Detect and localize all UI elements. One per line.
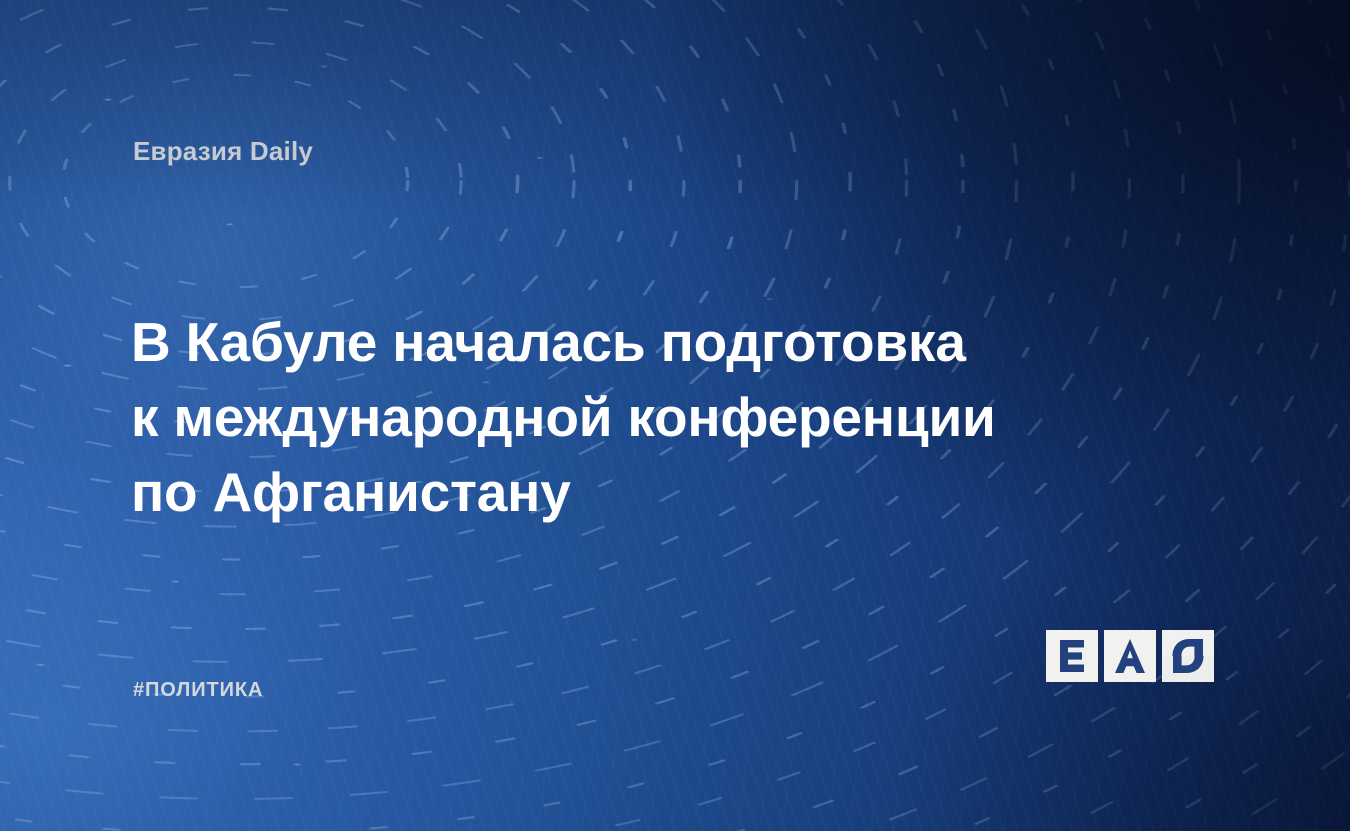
logo-tile-e: [1046, 630, 1098, 682]
eadaily-logo[interactable]: [1046, 630, 1222, 682]
headline-line-1: В Кабуле началась подготовка: [131, 305, 1031, 380]
logo-tile-d-top: [1162, 630, 1214, 656]
logo-tile-d: [1162, 630, 1214, 682]
brand-name: Евразия Daily: [133, 138, 313, 164]
headline-line-3: по Афганистану: [131, 455, 1031, 530]
page-title: В Кабуле началась подготовка к междунаро…: [131, 305, 1031, 530]
logo-tile-a: [1104, 630, 1156, 682]
headline-line-2: к международной конференции: [131, 380, 1031, 455]
logo-tile-d-bottom: [1162, 656, 1214, 682]
news-card: Евразия Daily В Кабуле началась подготов…: [0, 0, 1350, 831]
category-hashtag[interactable]: #ПОЛИТИКА: [133, 680, 263, 700]
